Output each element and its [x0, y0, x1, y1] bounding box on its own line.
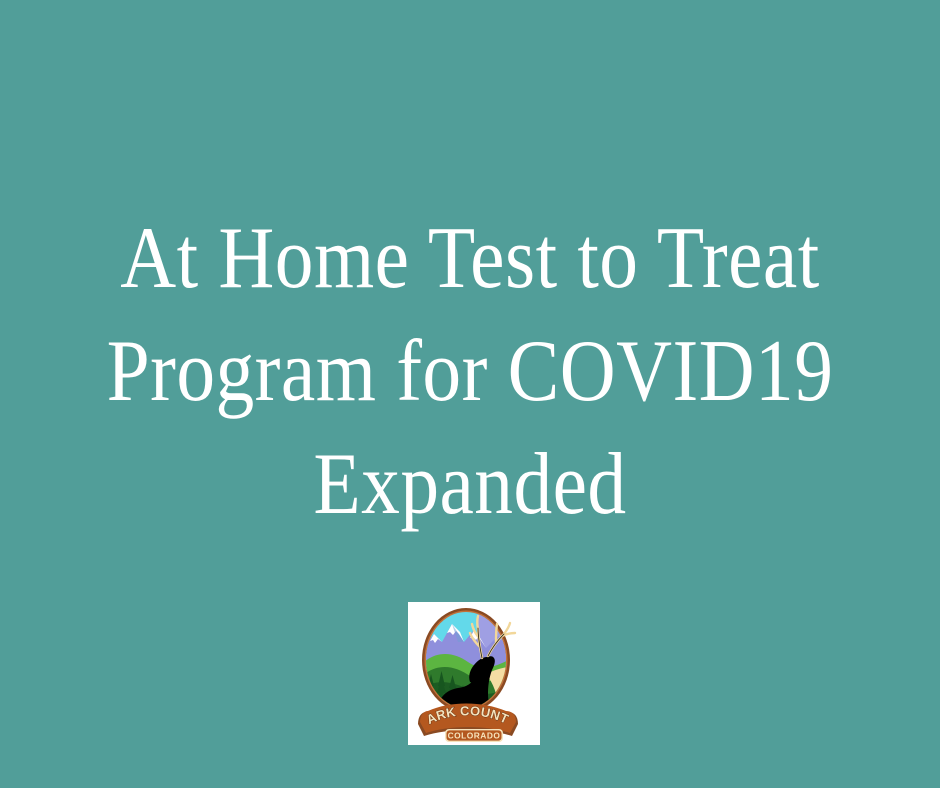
headline-line-2: Program for COVID19: [56, 315, 883, 428]
logo-colorado-text: COLORADO: [448, 731, 501, 741]
page-title: At Home Test to Treat Program for COVID1…: [0, 202, 940, 541]
park-county-seal-icon: PARK COUNTY COLORADO: [408, 602, 540, 745]
park-county-logo: PARK COUNTY COLORADO: [408, 602, 540, 745]
headline-line-1: At Home Test to Treat: [56, 202, 883, 315]
headline-line-3: Expanded: [56, 428, 883, 541]
social-announcement-card: At Home Test to Treat Program for COVID1…: [0, 0, 940, 788]
